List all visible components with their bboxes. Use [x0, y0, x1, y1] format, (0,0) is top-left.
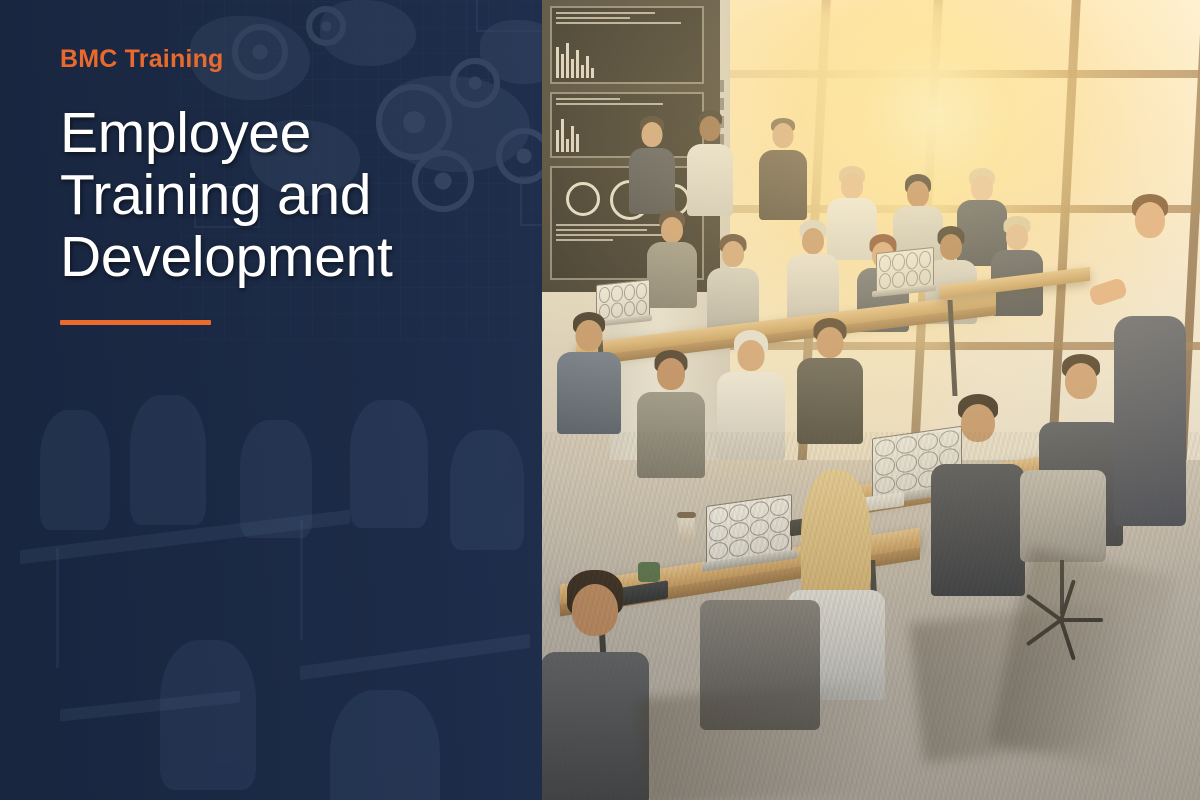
person-seated	[706, 236, 760, 334]
page-title: Employee Training and Development	[60, 102, 490, 288]
person-seated	[556, 314, 622, 434]
person-seated	[990, 218, 1044, 316]
person-seated	[796, 320, 864, 444]
brand-label: BMC Training	[60, 46, 490, 74]
person-seated	[786, 222, 840, 320]
person-standing	[628, 118, 676, 214]
banner-content: BMC Training Employee Training and Devel…	[60, 46, 490, 325]
left-navy-panel: BMC Training Employee Training and Devel…	[0, 0, 542, 800]
dashboard-screen	[550, 92, 704, 158]
person-standing	[758, 120, 808, 220]
person-seated	[646, 212, 698, 308]
person-standing	[686, 112, 734, 216]
training-banner: BMC Training Employee Training and Devel…	[0, 0, 1200, 800]
floor-shadow	[636, 682, 883, 800]
dashboard-screen	[550, 6, 704, 84]
accent-rule	[60, 320, 211, 325]
